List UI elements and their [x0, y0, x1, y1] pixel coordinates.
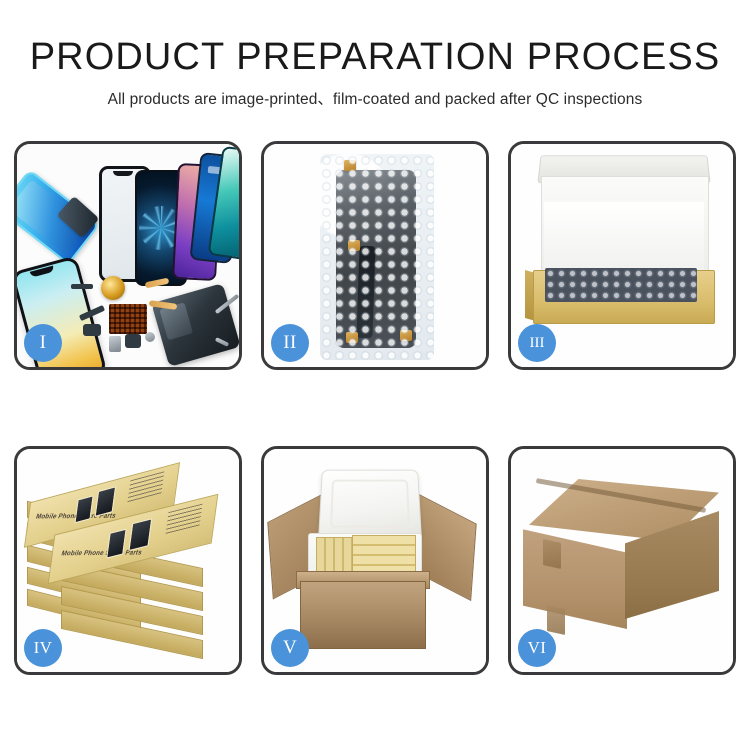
small-part-icon: [71, 284, 93, 289]
process-steps-grid: I II III: [14, 141, 736, 675]
battery-part-icon: [109, 336, 121, 352]
box-product-photo-icon: [128, 518, 152, 551]
chip-array-part-icon: [109, 304, 147, 334]
step-5-foam-carton[interactable]: V: [261, 446, 489, 675]
page-subtitle: All products are image-printed、film-coat…: [0, 87, 750, 109]
bubble-texture-icon: [320, 154, 434, 360]
white-foam-sheet-icon: [544, 202, 704, 272]
page-title: PRODUCT PREPARATION PROCESS: [0, 38, 750, 78]
carton-body-icon: [300, 581, 426, 649]
box-feature-text-lines: [165, 504, 202, 535]
carton-tape-icon: [547, 605, 565, 635]
gold-coil-part-icon: [101, 276, 125, 300]
step-badge: VI: [518, 629, 556, 667]
step-badge: II: [271, 324, 309, 362]
step-badge: I: [24, 324, 62, 362]
carton-tape-icon: [543, 539, 561, 569]
bubble-wrap-bag-icon: [320, 154, 434, 360]
step-badge: III: [518, 324, 556, 362]
screw-part-icon: [145, 332, 155, 342]
camera-module-part-icon: [83, 324, 101, 336]
step-1-spare-parts[interactable]: I: [14, 141, 242, 370]
step-badge: IV: [24, 629, 62, 667]
speaker-part-icon: [125, 334, 141, 348]
box-feature-text-lines: [127, 471, 164, 503]
carton-front-face-icon: [523, 523, 627, 629]
foam-lid-icon: [318, 470, 422, 541]
page-header: PRODUCT PREPARATION PROCESS All products…: [0, 0, 750, 109]
phone-open-housing-icon: [151, 283, 239, 367]
step-2-bubble-wrap[interactable]: II: [261, 141, 489, 370]
step-4-boxed-stack[interactable]: Mobile Phone Spare Parts Mobile Phone Sp…: [14, 446, 242, 675]
step-6-sealed-carton[interactable]: VI: [508, 446, 736, 675]
bubble-wrapped-contents-icon: [545, 268, 697, 302]
step-3-foam-box[interactable]: III: [508, 141, 736, 370]
step-badge: V: [271, 629, 309, 667]
